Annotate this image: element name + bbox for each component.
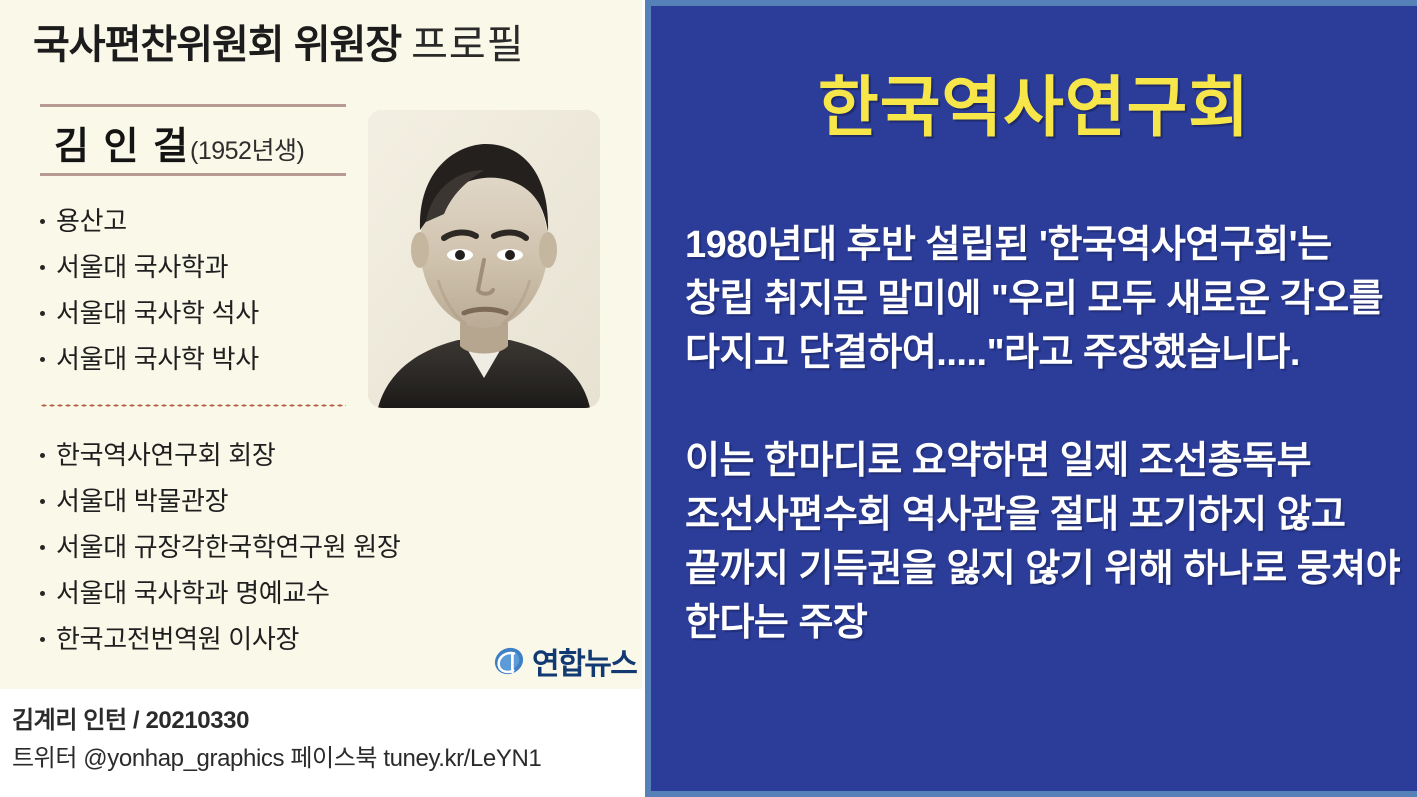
bullet-icon <box>40 591 45 596</box>
profile-card: 국사편찬위원회 위원장프로필 김 인 걸(1952년생) <box>0 0 642 689</box>
credit-social: 트위터 @yonhap_graphics 페이스북 tuney.kr/LeYN1 <box>12 740 640 778</box>
bullet-icon <box>40 219 45 224</box>
list-item: 용산고 <box>38 198 259 244</box>
list-item: 서울대 국사학과 명예교수 <box>38 570 401 616</box>
list-item-label: 서울대 박물관장 <box>56 486 228 516</box>
list-item-label: 서울대 국사학 석사 <box>56 298 259 328</box>
list-item: 한국역사연구회 회장 <box>38 432 401 478</box>
section-divider <box>40 404 346 407</box>
bullet-icon <box>40 499 45 504</box>
list-item-label: 서울대 국사학과 <box>56 252 228 282</box>
list-item-label: 서울대 규장각한국학연구원 원장 <box>56 532 401 562</box>
person-name: 김 인 걸 <box>54 126 190 168</box>
list-item-label: 한국역사연구회 회장 <box>56 440 276 470</box>
page-title-strong: 국사편찬위원회 위원장 <box>33 23 401 67</box>
list-item-label: 용산고 <box>56 206 127 236</box>
commentary-heading: 한국역사연구회 <box>651 54 1417 150</box>
page-title-light: 프로필 <box>411 23 524 67</box>
yonhap-news-logo: 연합뉴스 <box>492 639 636 683</box>
bullet-icon <box>40 265 45 270</box>
list-item: 서울대 국사학과 <box>38 244 259 290</box>
list-item-label: 서울대 국사학 박사 <box>56 344 259 374</box>
list-item-label: 서울대 국사학과 명예교수 <box>56 578 330 608</box>
career-list: 한국역사연구회 회장 서울대 박물관장 서울대 규장각한국학연구원 원장 서울대… <box>38 432 401 662</box>
list-item: 서울대 규장각한국학연구원 원장 <box>38 524 401 570</box>
bullet-icon <box>40 453 45 458</box>
profile-panel: 국사편찬위원회 위원장프로필 김 인 걸(1952년생) <box>0 0 642 797</box>
name-block: 김 인 걸(1952년생) <box>40 104 346 176</box>
commentary-panel-inner: 한국역사연구회 1980년대 후반 설립된 '한국역사연구회'는 창립 취지문 … <box>651 6 1417 791</box>
bullet-icon <box>40 311 45 316</box>
portrait-photo <box>368 110 600 408</box>
credits-block: 김계리 인턴 / 20210330 트위터 @yonhap_graphics 페… <box>12 702 640 778</box>
education-list: 용산고 서울대 국사학과 서울대 국사학 석사 서울대 국사학 박사 <box>38 198 259 382</box>
commentary-panel: 한국역사연구회 1980년대 후반 설립된 '한국역사연구회'는 창립 취지문 … <box>645 0 1417 797</box>
commentary-body: 1980년대 후반 설립된 '한국역사연구회'는 창립 취지문 말미에 "우리 … <box>685 218 1407 650</box>
list-item: 서울대 박물관장 <box>38 478 401 524</box>
commentary-paragraph-1: 1980년대 후반 설립된 '한국역사연구회'는 창립 취지문 말미에 "우리 … <box>685 218 1407 380</box>
list-item-label: 한국고전번역원 이사장 <box>56 624 299 654</box>
yonhap-swirl-icon <box>492 644 526 678</box>
list-item: 한국고전번역원 이사장 <box>38 616 401 662</box>
bullet-icon <box>40 357 45 362</box>
commentary-paragraph-2: 이는 한마디로 요약하면 일제 조선총독부 조선사편수회 역사관을 절대 포기하… <box>685 434 1407 650</box>
list-item: 서울대 국사학 박사 <box>38 336 259 382</box>
name-row: 김 인 걸(1952년생) <box>54 115 304 170</box>
list-item: 서울대 국사학 석사 <box>38 290 259 336</box>
person-birth-year: (1952년생) <box>190 137 304 165</box>
graphic-screen: 국사편찬위원회 위원장프로필 김 인 걸(1952년생) <box>0 0 1417 797</box>
yonhap-logo-text: 연합뉴스 <box>532 639 636 683</box>
credit-author-date: 김계리 인턴 / 20210330 <box>12 702 640 740</box>
bullet-icon <box>40 545 45 550</box>
bullet-icon <box>40 637 45 642</box>
page-title: 국사편찬위원회 위원장프로필 <box>33 21 525 69</box>
